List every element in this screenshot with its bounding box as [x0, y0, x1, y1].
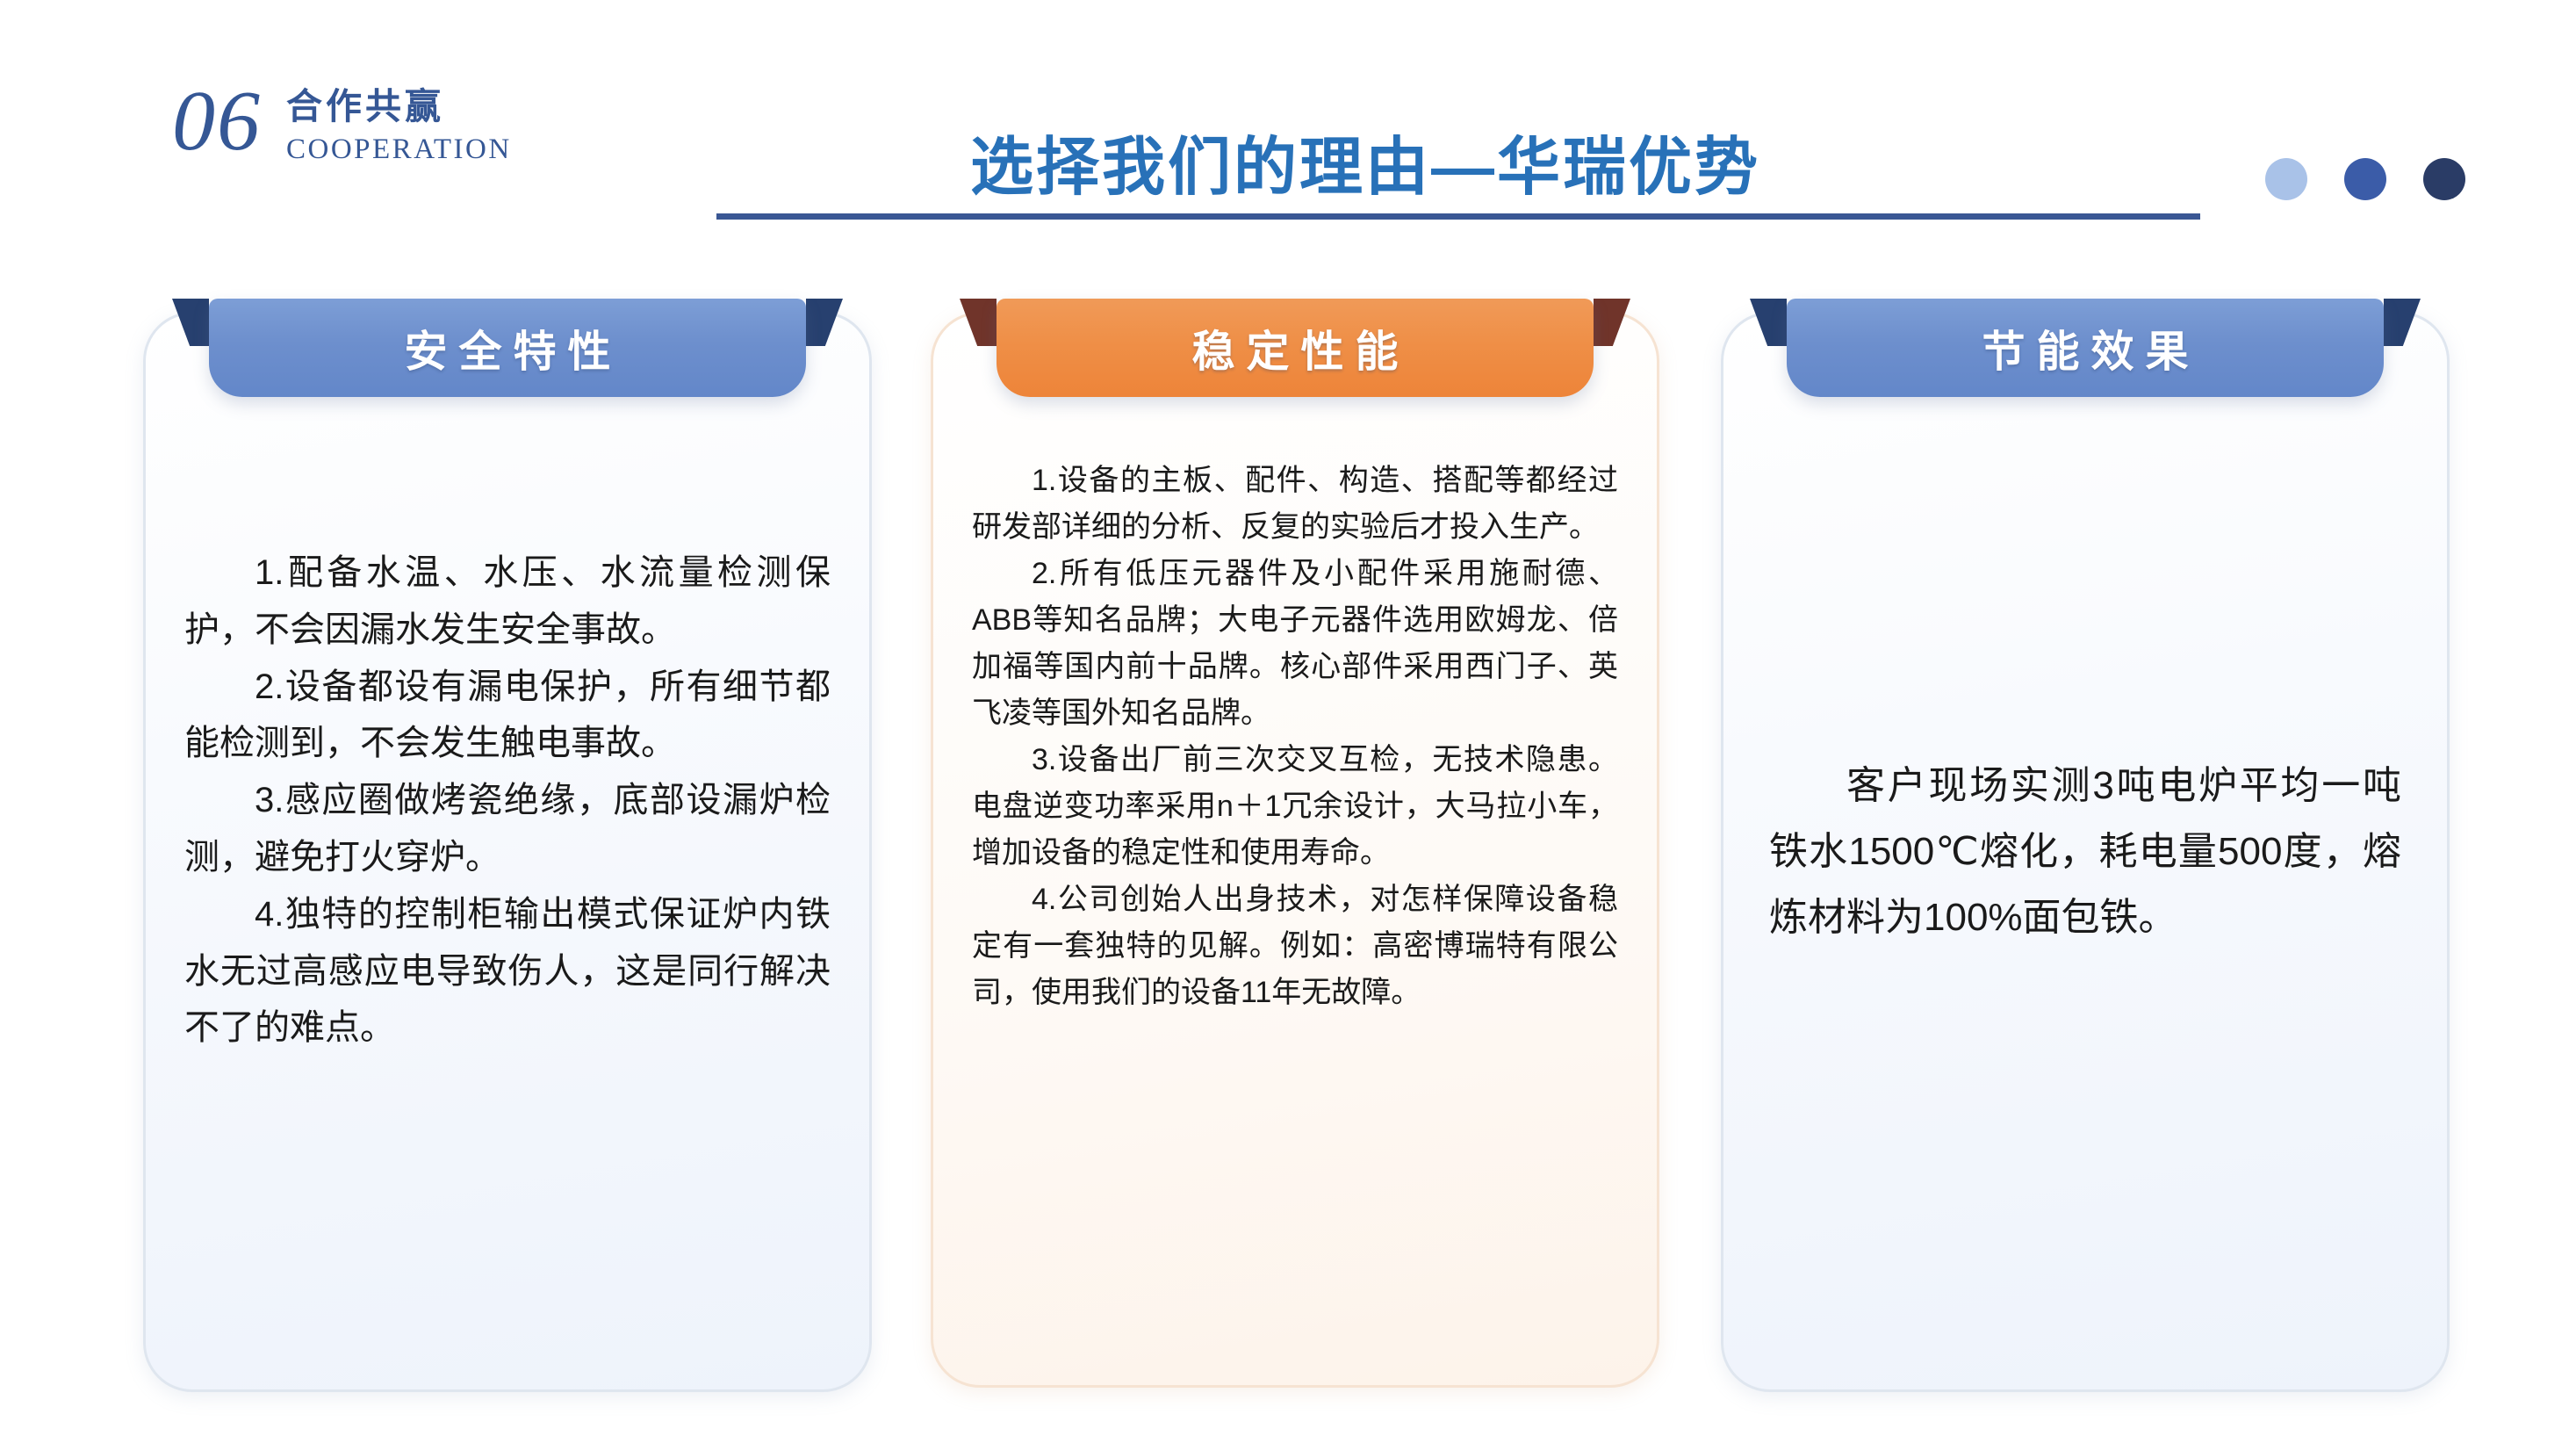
ribbon-tab-left-icon	[1750, 299, 1787, 346]
ribbon-body: 安全特性	[209, 299, 806, 397]
dot-light-icon	[2265, 158, 2307, 200]
slide-header: 06 合作共赢 COOPERATION 选择我们的理由—华瑞优势	[0, 0, 2576, 263]
ribbon-tab-right-icon	[2384, 299, 2421, 346]
card-body-stability: 1.设备的主板、配件、构造、搭配等都经过研发部详细的分析、反复的实验后才投入生产…	[933, 458, 1657, 1016]
feature-card-energy-saving: 节能效果 客户现场实测3吨电炉平均一吨铁水1500℃熔化，耗电量500度，熔炼材…	[1721, 312, 2450, 1392]
card-banner-label: 安全特性	[392, 317, 622, 379]
feature-card-stability: 稳定性能 1.设备的主板、配件、构造、搭配等都经过研发部详细的分析、反复的实验后…	[931, 312, 1659, 1388]
ribbon-tab-left-icon	[172, 299, 209, 346]
header-dot-group	[2265, 158, 2465, 200]
card-body-safety: 1.配备水温、水压、水流量检测保护，不会因漏水发生安全事故。 2.设备都设有漏电…	[146, 545, 869, 1057]
card-paragraph: 4.公司创始人出身技术，对怎样保障设备稳定有一套独特的见解。例如：高密博瑞特有限…	[972, 877, 1618, 1016]
card-banner-label: 节能效果	[1970, 317, 2199, 379]
ribbon-tab-left-icon	[960, 299, 997, 346]
ribbon-tab-right-icon	[806, 299, 843, 346]
card-paragraph: 2.设备都设有漏电保护，所有细节都能检测到，不会发生触电事故。	[184, 659, 831, 773]
card-paragraph: 2.所有低压元器件及小配件采用施耐德、ABB等知名品牌；大电子元器件选用欧姆龙、…	[972, 551, 1618, 737]
card-paragraph: 3.设备出厂前三次交叉互检，无技术隐患。电盘逆变功率采用n＋1冗余设计，大马拉小…	[972, 737, 1618, 877]
section-kicker: 06 合作共赢 COOPERATION	[172, 86, 512, 169]
ribbon-body: 稳定性能	[997, 299, 1594, 397]
slide-root: 06 合作共赢 COOPERATION 选择我们的理由—华瑞优势 安全特性	[0, 0, 2576, 1443]
card-body-energy-saving: 客户现场实测3吨电炉平均一吨铁水1500℃熔化，耗电量500度，熔炼材料为100…	[1723, 754, 2447, 950]
section-title-cn: 合作共赢	[286, 86, 512, 127]
card-banner-safety: 安全特性	[209, 299, 806, 397]
card-paragraph: 客户现场实测3吨电炉平均一吨铁水1500℃熔化，耗电量500度，熔炼材料为100…	[1769, 754, 2401, 950]
card-paragraph: 1.配备水温、水压、水流量检测保护，不会因漏水发生安全事故。	[184, 545, 831, 659]
ribbon-body: 节能效果	[1787, 299, 2384, 397]
page-title: 选择我们的理由—华瑞优势	[970, 115, 1760, 207]
card-banner-stability: 稳定性能	[997, 299, 1594, 397]
card-banner-energy-saving: 节能效果	[1787, 299, 2384, 397]
dot-dark-icon	[2423, 158, 2465, 200]
card-paragraph: 4.独特的控制柜输出模式保证炉内铁水无过高感应电导致伤人，这是同行解决不了的难点…	[184, 886, 831, 1057]
card-banner-label: 稳定性能	[1180, 317, 1409, 379]
ribbon-tab-right-icon	[1594, 299, 1630, 346]
dot-medium-icon	[2344, 158, 2386, 200]
card-paragraph: 3.感应圈做烤瓷绝缘，底部设漏炉检测，避免打火穿炉。	[184, 772, 831, 886]
feature-card-safety: 安全特性 1.配备水温、水压、水流量检测保护，不会因漏水发生安全事故。 2.设备…	[143, 312, 872, 1392]
section-number: 06	[172, 81, 262, 162]
card-paragraph: 1.设备的主板、配件、构造、搭配等都经过研发部详细的分析、反复的实验后才投入生产…	[972, 458, 1618, 551]
title-underline-rule	[716, 213, 2200, 220]
section-kicker-text: 合作共赢 COOPERATION	[286, 86, 512, 169]
section-title-en: COOPERATION	[286, 131, 512, 169]
